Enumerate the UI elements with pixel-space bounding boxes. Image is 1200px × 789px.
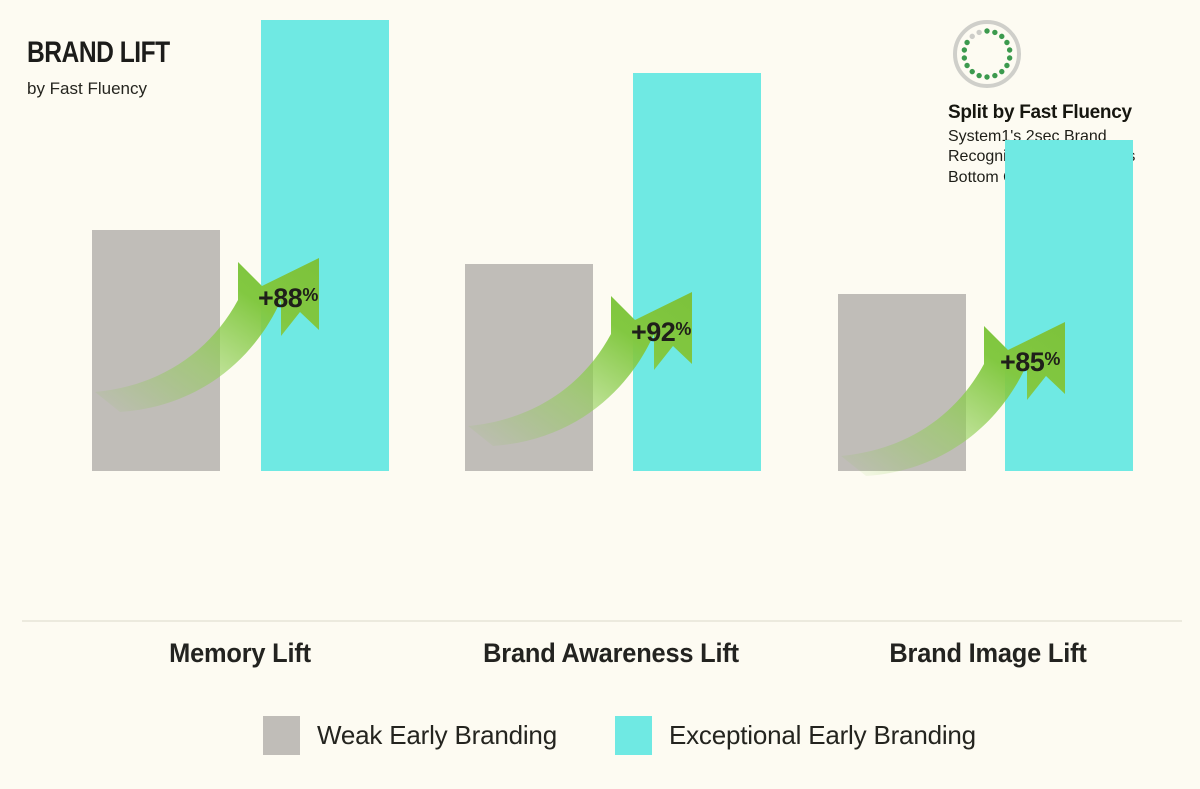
bar-memory-weak	[92, 230, 220, 471]
legend-item-weak[interactable]: Weak Early Branding	[263, 716, 557, 755]
plot-area	[0, 0, 1200, 640]
bar-image-weak	[838, 294, 966, 471]
category-label-2: Brand Image Lift	[847, 638, 1129, 669]
chart-canvas: BRAND LIFT by Fast Fluency Split by Fast…	[0, 0, 1200, 789]
bar-awareness-weak	[465, 264, 593, 471]
percent-label-awareness: +92%	[631, 317, 691, 348]
percent-label-image: +85%	[1000, 347, 1060, 378]
percent-label-memory: +88%	[258, 283, 318, 314]
legend: Weak Early Branding Exceptional Early Br…	[263, 716, 976, 755]
category-label-0: Memory Lift	[99, 638, 381, 669]
bar-image-strong	[1005, 140, 1133, 471]
legend-swatch-weak	[263, 716, 300, 755]
axis-baseline	[22, 620, 1182, 622]
legend-label-weak: Weak Early Branding	[317, 720, 557, 751]
legend-swatch-exceptional	[615, 716, 652, 755]
category-label-1: Brand Awareness Lift	[470, 638, 752, 669]
legend-item-exceptional[interactable]: Exceptional Early Branding	[615, 716, 976, 755]
bar-awareness-strong	[633, 73, 761, 471]
bar-memory-strong	[261, 20, 389, 471]
legend-label-exceptional: Exceptional Early Branding	[669, 720, 976, 751]
